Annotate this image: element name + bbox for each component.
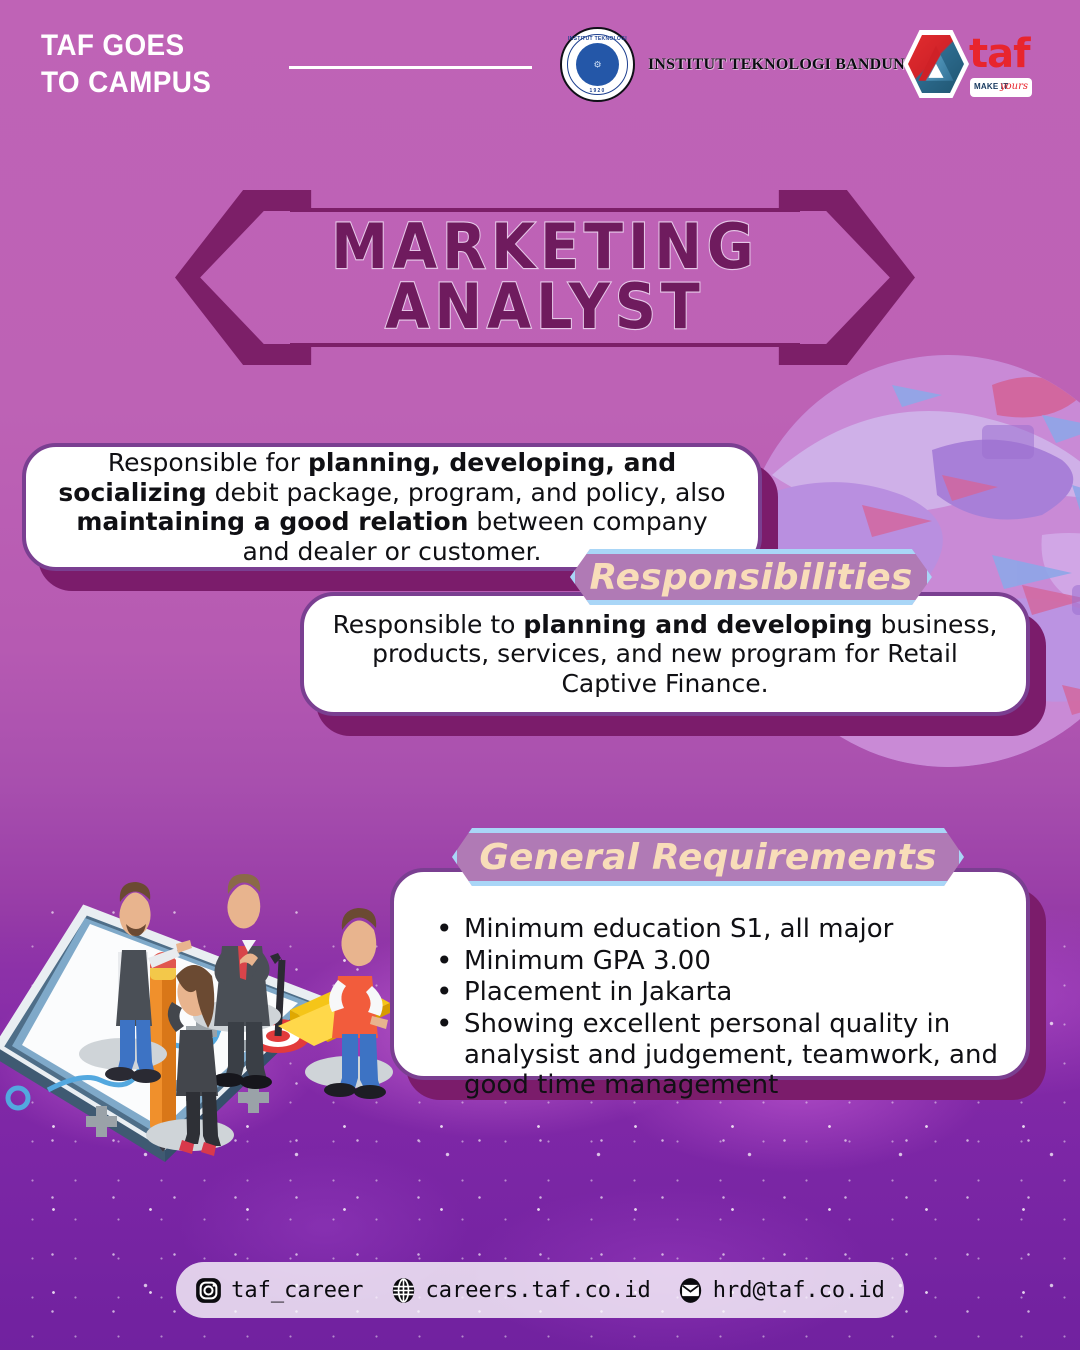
taf-tagline-script: yours [1000, 81, 1028, 92]
itb-seal-arc-top: INSTITUT TEKNOLOGI [562, 36, 633, 42]
marketing-team-illustration [0, 840, 460, 1200]
contact-website-label: careers.taf.co.id [426, 1278, 651, 1303]
responsibilities-card: Responsible to planning and developing b… [300, 592, 1030, 716]
responsibilities-text: Responsible to planning and developing b… [330, 610, 1000, 699]
itb-wordmark: INSTITUT TEKNOLOGI BANDUNG [648, 56, 918, 74]
taf-wordmark: taf [969, 34, 1030, 74]
general-requirements-badge-label: General Requirements [479, 837, 936, 878]
requirements-list: Minimum education S1, all majorMinimum G… [430, 914, 1000, 1102]
taf-tagline: MAKE IT yours [970, 78, 1032, 97]
header-divider [289, 66, 532, 69]
contact-email-label: hrd@taf.co.id [713, 1278, 885, 1303]
globe-icon [390, 1277, 417, 1304]
taf-logo: taf MAKE IT yours [903, 28, 1033, 104]
header: TAF GOESTO CAMPUS INSTITUT TEKNOLOGI ⚙ 1… [0, 0, 1080, 140]
contact-instagram[interactable]: taf_career [195, 1277, 363, 1304]
contact-website[interactable]: careers.taf.co.id [390, 1277, 651, 1304]
responsibilities-badge: Responsibilities [570, 549, 932, 605]
itb-seal-icon: INSTITUT TEKNOLOGI ⚙ 1920 [560, 27, 635, 102]
requirement-item: Placement in Jakarta [430, 977, 1000, 1008]
contact-email[interactable]: hrd@taf.co.id [677, 1277, 885, 1304]
summary-text: Responsible for planning, developing, an… [52, 448, 732, 566]
contact-instagram-label: taf_career [231, 1278, 363, 1303]
general-requirements-card: Minimum education S1, all majorMinimum G… [390, 868, 1030, 1080]
envelope-icon [677, 1277, 704, 1304]
requirement-item: Showing excellent personal quality in an… [430, 1009, 1000, 1101]
contact-bar: taf_career careers.taf.co.id hrd@taf.co.… [176, 1262, 904, 1318]
poster-root: TAF GOESTO CAMPUS INSTITUT TEKNOLOGI ⚙ 1… [0, 0, 1080, 1350]
itb-seal-year: 1920 [562, 88, 633, 94]
taf-hexagon-icon [903, 30, 969, 98]
job-title-banner: MARKETING ANALYST [175, 190, 915, 365]
instagram-icon [195, 1277, 222, 1304]
responsibilities-badge-label: Responsibilities [589, 557, 912, 598]
general-requirements-badge: General Requirements [452, 828, 964, 886]
ganesha-glyph: ⚙ [593, 61, 601, 70]
requirement-item: Minimum education S1, all major [430, 914, 1000, 945]
requirement-item: Minimum GPA 3.00 [430, 946, 1000, 977]
illustration-svg [0, 840, 460, 1200]
job-title-line-2: ANALYST [385, 275, 705, 340]
kicker-text: TAF GOESTO CAMPUS [41, 28, 211, 101]
